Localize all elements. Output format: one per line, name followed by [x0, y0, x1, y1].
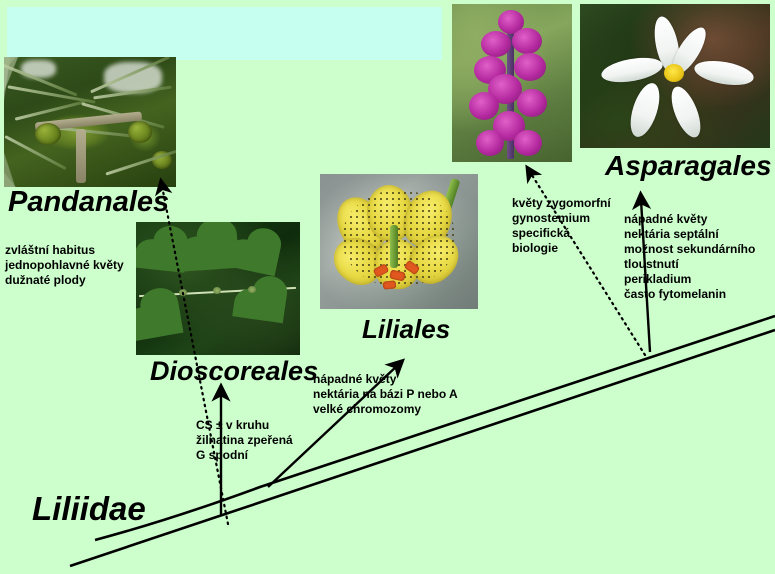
note-asparagales: nápadné květy nektária septální možnost …	[624, 212, 755, 302]
note-line: biologie	[512, 241, 611, 256]
note-line: perikladium	[624, 272, 755, 287]
order-title-dioscoreales: Dioscoreales	[150, 356, 318, 387]
note-line: nápadné květy	[313, 372, 458, 387]
note-line: žilnatina zpeřená	[196, 433, 293, 448]
note-line: nektária septální	[624, 227, 755, 242]
note-line: velké chromozomy	[313, 402, 458, 417]
note-line: zvláštní habitus	[5, 243, 124, 258]
note-line: G spodní	[196, 448, 293, 463]
clade-title-liliidae: Liliidae	[32, 490, 146, 528]
note-line: jednopohlavné květy	[5, 258, 124, 273]
note-line: často fytomelanin	[624, 287, 755, 302]
note-line: nápadné květy	[624, 212, 755, 227]
order-title-pandanales: Pandanales	[8, 186, 169, 219]
note-line: nektária na bázi P nebo A	[313, 387, 458, 402]
note-line: tloustnutí	[624, 257, 755, 272]
note-line: specifická	[512, 226, 611, 241]
note-line: květy zygomorfní	[512, 196, 611, 211]
note-line: CS ± v kruhu	[196, 418, 293, 433]
order-title-liliales: Liliales	[362, 314, 450, 345]
branch-arrow-pandanales	[162, 186, 228, 524]
note-pandanales: zvláštní habitus jednopohlavné květy duž…	[5, 243, 124, 288]
order-title-asparagales: Asparagales	[605, 150, 772, 182]
note-orchidaceae: květy zygomorfní gynostemium specifická …	[512, 196, 611, 256]
note-line: gynostemium	[512, 211, 611, 226]
note-liliales: nápadné květy nektária na bázi P nebo A …	[313, 372, 458, 417]
slide-canvas: Pandanales Dioscoreales Liliales Asparag…	[0, 0, 775, 574]
note-line: možnost sekundárního	[624, 242, 755, 257]
note-line: dužnaté plody	[5, 273, 124, 288]
note-dioscoreales: CS ± v kruhu žilnatina zpeřená G spodní	[196, 418, 293, 463]
